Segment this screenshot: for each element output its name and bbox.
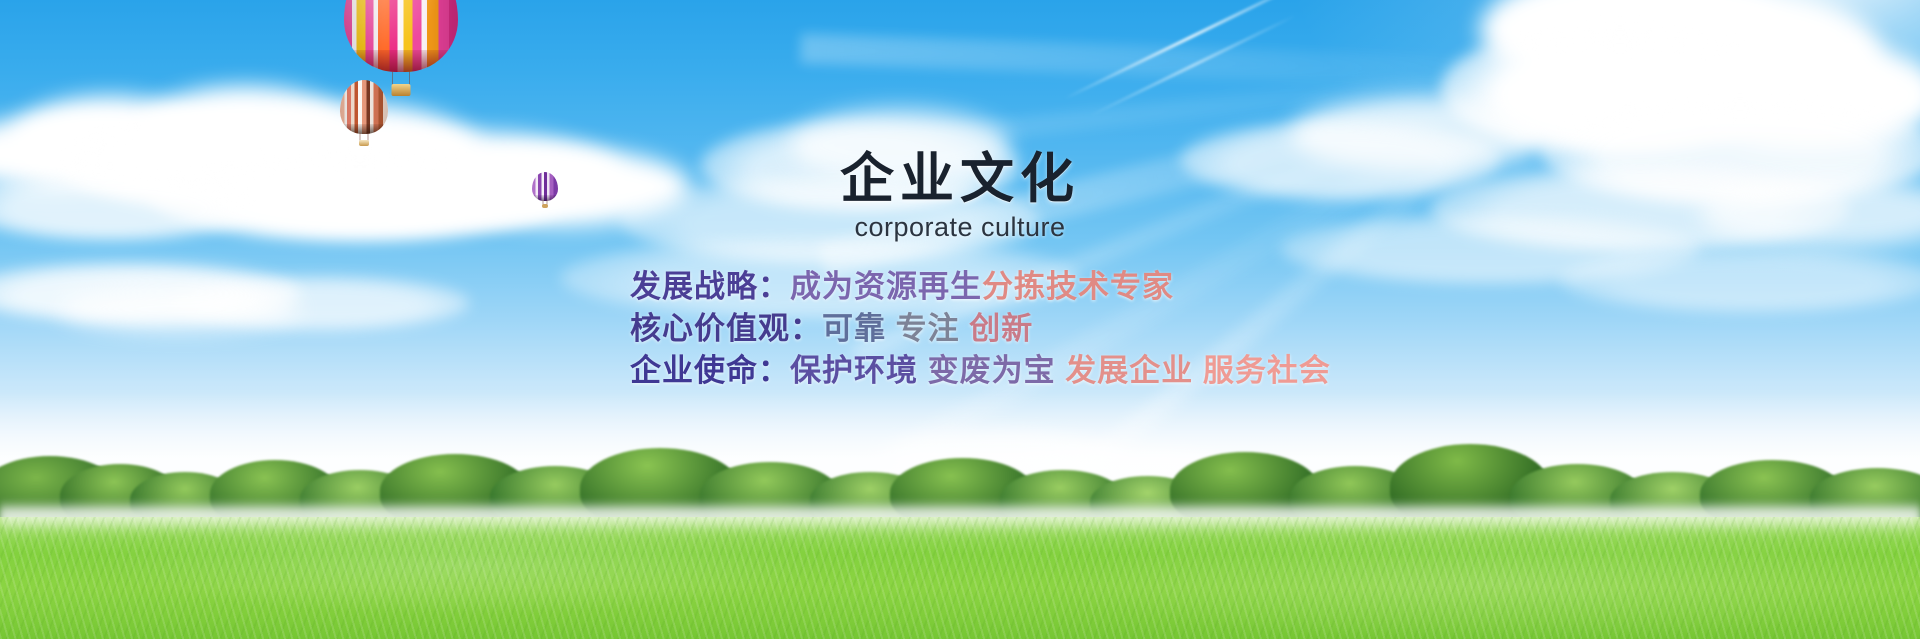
- slogan-segment: 分拣技术专家: [982, 269, 1174, 304]
- slogan-segment: 创新: [969, 311, 1033, 346]
- slogan-segment: [886, 311, 896, 346]
- slogan-development-strategy: 发展战略：成为资源再生分拣技术专家: [630, 266, 1331, 308]
- slogan-segment: 成为资源再生: [790, 269, 982, 304]
- slogan-segment: 可靠: [822, 311, 886, 346]
- title-block: 企业文化 corporate culture: [0, 150, 1920, 243]
- banner-content: 企业文化 corporate culture 发展战略：成为资源再生分拣技术专家…: [0, 0, 1920, 639]
- slogan-segment: 保护环境: [790, 353, 918, 388]
- slogan-segment: [918, 353, 928, 388]
- slogan-segment: 核心价值观：: [630, 311, 822, 346]
- corporate-culture-banner: 企业文化 corporate culture 发展战略：成为资源再生分拣技术专家…: [0, 0, 1920, 639]
- page-subtitle: corporate culture: [0, 212, 1920, 243]
- slogan-corporate-mission: 企业使命：保护环境 变废为宝 发展企业 服务社会: [630, 350, 1331, 392]
- slogan-segment: [1193, 353, 1203, 388]
- slogan-segment: 变废为宝: [928, 353, 1056, 388]
- page-title: 企业文化: [0, 150, 1920, 208]
- slogan-segment: 发展战略：: [630, 269, 790, 304]
- slogan-segment: [960, 311, 970, 346]
- slogan-core-values: 核心价值观：可靠 专注 创新: [630, 308, 1331, 350]
- slogan-segment: 服务社会: [1203, 353, 1331, 388]
- slogan-segment: 发展企业: [1065, 353, 1193, 388]
- slogan-segment: [1056, 353, 1066, 388]
- slogan-list: 发展战略：成为资源再生分拣技术专家 核心价值观：可靠 专注 创新 企业使命：保护…: [630, 266, 1331, 392]
- slogan-segment: 企业使命：: [630, 353, 790, 388]
- slogan-segment: 专注: [896, 311, 960, 346]
